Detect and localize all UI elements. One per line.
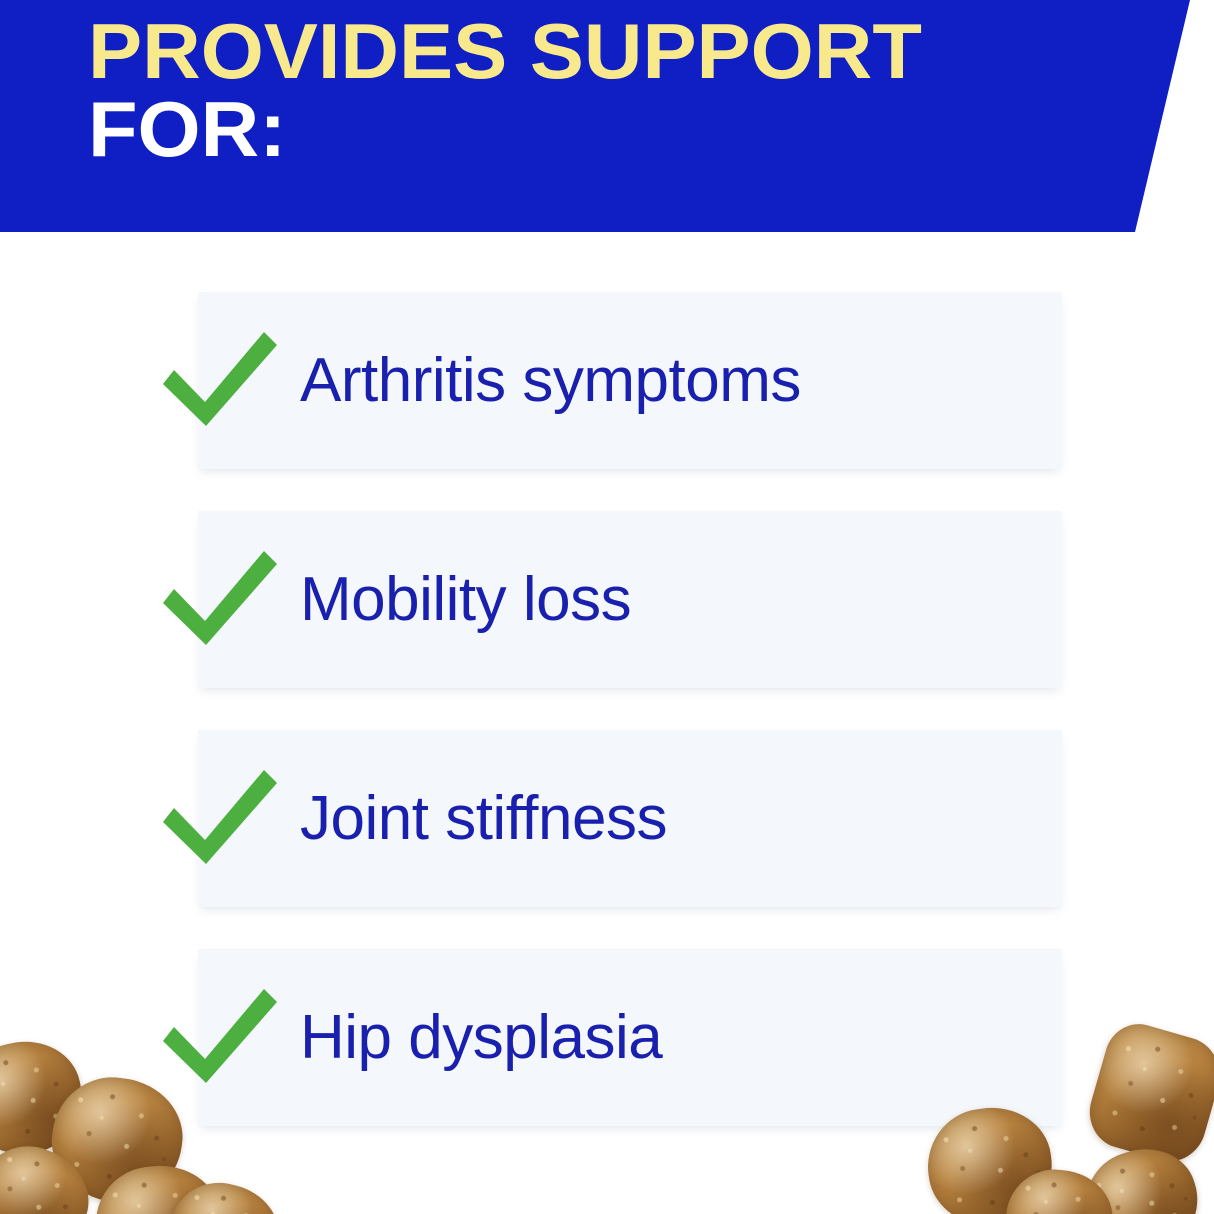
- list-item-label: Hip dysplasia: [300, 949, 662, 1126]
- banner-headline-line-1: PROVIDES SUPPORT: [88, 14, 1128, 88]
- list-item-label: Arthritis symptoms: [300, 292, 801, 469]
- green-check-icon: [160, 541, 280, 659]
- list-item[interactable]: Mobility loss: [0, 511, 1214, 688]
- banner-headline: PROVIDES SUPPORT FOR:: [88, 14, 1088, 166]
- list-item[interactable]: Arthritis symptoms: [0, 292, 1214, 469]
- list-item[interactable]: Joint stiffness: [0, 730, 1214, 907]
- promo-graphic: PROVIDES SUPPORT FOR: Arthritis symptoms…: [0, 0, 1214, 1214]
- list-item[interactable]: Hip dysplasia: [0, 949, 1214, 1126]
- header-banner: PROVIDES SUPPORT FOR:: [0, 0, 1190, 232]
- green-check-icon: [160, 322, 280, 440]
- list-item-label: Joint stiffness: [300, 730, 667, 907]
- kibble-piece: [160, 1172, 288, 1214]
- green-check-icon: [160, 760, 280, 878]
- support-list: Arthritis symptoms Mobility loss Joint s…: [0, 292, 1214, 1168]
- green-check-icon: [160, 979, 280, 1097]
- banner-headline-line-2: FOR:: [88, 92, 1128, 166]
- list-item-label: Mobility loss: [300, 511, 631, 688]
- kibble-piece: [1001, 1165, 1117, 1214]
